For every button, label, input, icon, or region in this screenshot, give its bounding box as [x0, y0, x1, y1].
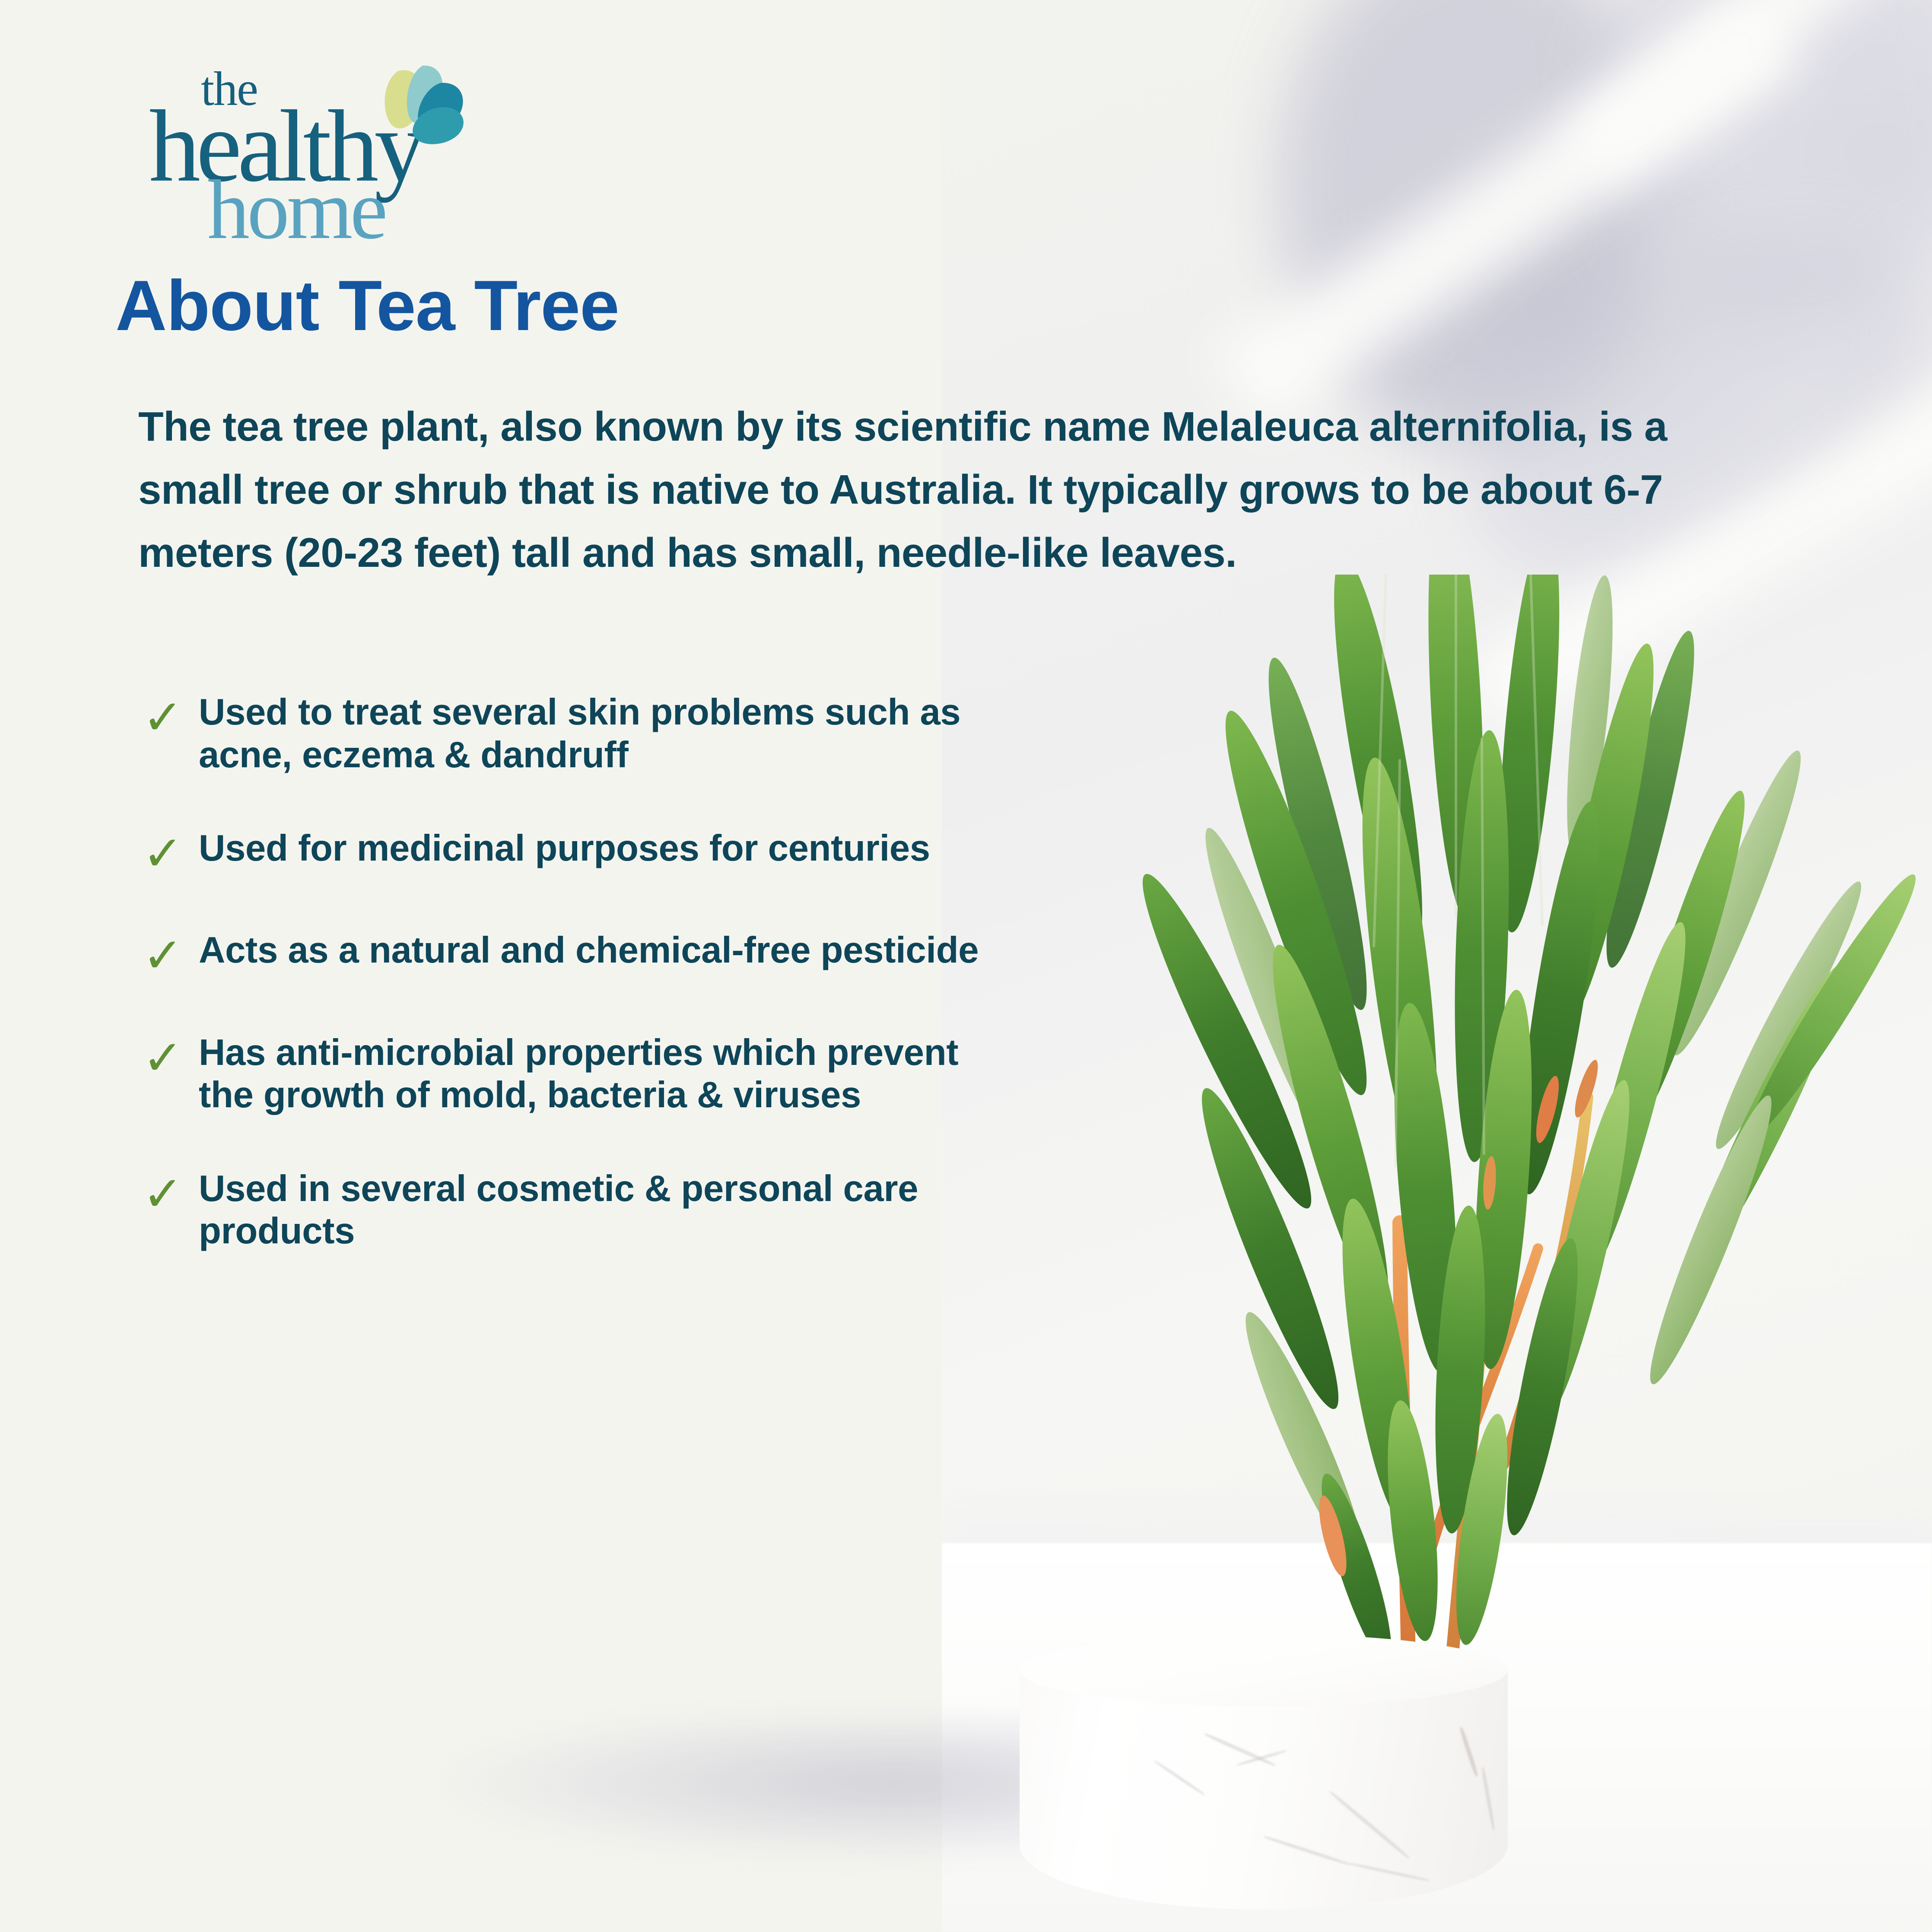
page-title: About Tea Tree [0, 270, 734, 341]
list-item-label: Used in several cosmetic & personal care… [199, 1168, 1015, 1253]
marble-vein [1348, 1862, 1429, 1881]
list-item-label: Used for medicinal purposes for centurie… [199, 827, 930, 870]
marble-vein [1204, 1732, 1276, 1767]
check-icon: ✓ [143, 1168, 199, 1219]
check-icon: ✓ [143, 827, 199, 878]
marble-vein [1481, 1767, 1496, 1831]
benefits-list: ✓ Used to treat several skin problems su… [143, 691, 1015, 1253]
tea-tree-leaves-illustration [942, 575, 1932, 1681]
list-item-label: Has anti-microbial properties which prev… [199, 1032, 1015, 1117]
white-marble-podium [1020, 1634, 1508, 1932]
check-icon: ✓ [143, 929, 199, 980]
list-item: ✓ Acts as a natural and chemical-free pe… [143, 929, 1015, 980]
content-column: the healthy home About Tea Tree The tea … [0, 0, 994, 1932]
tea-tree-plant-photo [942, 575, 1932, 1681]
marble-vein [1263, 1835, 1350, 1866]
list-item-label: Used to treat several skin problems such… [199, 691, 1015, 776]
check-icon: ✓ [143, 691, 199, 742]
brand-logo[interactable]: the healthy home [153, 65, 430, 225]
logo-text-home: home [207, 168, 385, 252]
list-item-label: Acts as a natural and chemical-free pest… [199, 929, 979, 972]
list-item: ✓ Has anti-microbial properties which pr… [143, 1032, 1015, 1117]
list-item: ✓ Used in several cosmetic & personal ca… [143, 1168, 1015, 1253]
marble-vein [1329, 1790, 1411, 1859]
podium-top-surface [1020, 1634, 1508, 1706]
marble-vein [1459, 1726, 1479, 1777]
list-item: ✓ Used to treat several skin problems su… [143, 691, 1015, 776]
butterfly-logo-icon [372, 56, 480, 156]
marble-vein [1153, 1760, 1205, 1795]
check-icon: ✓ [143, 1032, 199, 1083]
intro-paragraph: The tea tree plant, also known by its sc… [138, 395, 1728, 585]
list-item: ✓ Used for medicinal purposes for centur… [143, 827, 1015, 878]
